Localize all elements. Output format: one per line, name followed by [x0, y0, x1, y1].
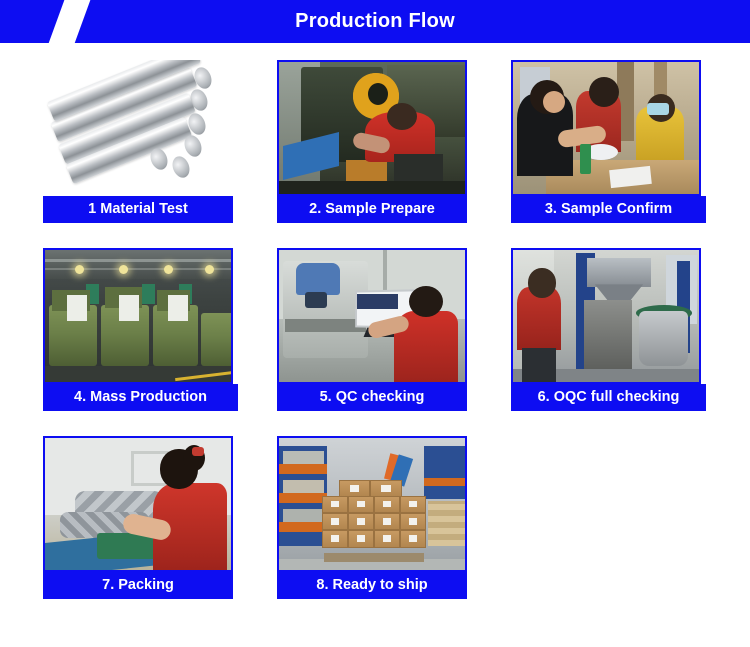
sample-confirm-scene: [513, 62, 699, 194]
step-1-photo: [43, 60, 233, 196]
flow-step-3[interactable]: 3. Sample Confirm: [511, 60, 701, 248]
step-4-photo: [43, 248, 233, 384]
oqc-checking-scene: [513, 250, 699, 382]
flow-step-2[interactable]: 2. Sample Prepare: [277, 60, 467, 248]
step-8-caption: 8. Ready to ship: [277, 572, 467, 599]
flow-step-7[interactable]: 7. Packing: [43, 436, 233, 624]
flow-step-4[interactable]: 4. Mass Production: [43, 248, 233, 436]
production-flow-grid: 1 Material Test 2.: [0, 43, 750, 647]
step-7-caption: 7. Packing: [43, 572, 233, 599]
flow-row-3: 7. Packing: [0, 436, 750, 624]
flow-step-5[interactable]: 5. QC checking: [277, 248, 467, 436]
flow-step-1[interactable]: 1 Material Test: [43, 60, 233, 248]
mass-production-scene: [45, 250, 231, 382]
flow-step-6[interactable]: 6. OQC full checking: [511, 248, 701, 436]
metal-bars-scene: [43, 60, 233, 196]
qc-checking-scene: [279, 250, 465, 382]
packing-scene: [45, 438, 231, 570]
step-3-photo: [511, 60, 701, 196]
flow-row-2: 4. Mass Production: [0, 248, 750, 436]
step-8-photo: [277, 436, 467, 572]
step-2-photo: [277, 60, 467, 196]
page-title: Production Flow: [0, 0, 750, 43]
step-3-caption: 3. Sample Confirm: [511, 196, 706, 223]
step-5-photo: [277, 248, 467, 384]
flow-row-1: 1 Material Test 2.: [0, 60, 750, 248]
step-5-caption: 5. QC checking: [277, 384, 467, 411]
step-4-caption: 4. Mass Production: [43, 384, 238, 411]
flow-step-8[interactable]: 8. Ready to ship: [277, 436, 467, 624]
step-1-caption: 1 Material Test: [43, 196, 233, 223]
sample-prepare-scene: [279, 62, 465, 194]
step-6-caption: 6. OQC full checking: [511, 384, 706, 411]
step-6-photo: [511, 248, 701, 384]
ready-to-ship-scene: [279, 438, 465, 570]
step-2-caption: 2. Sample Prepare: [277, 196, 467, 223]
step-7-photo: [43, 436, 233, 572]
page-header: Production Flow: [0, 0, 750, 43]
